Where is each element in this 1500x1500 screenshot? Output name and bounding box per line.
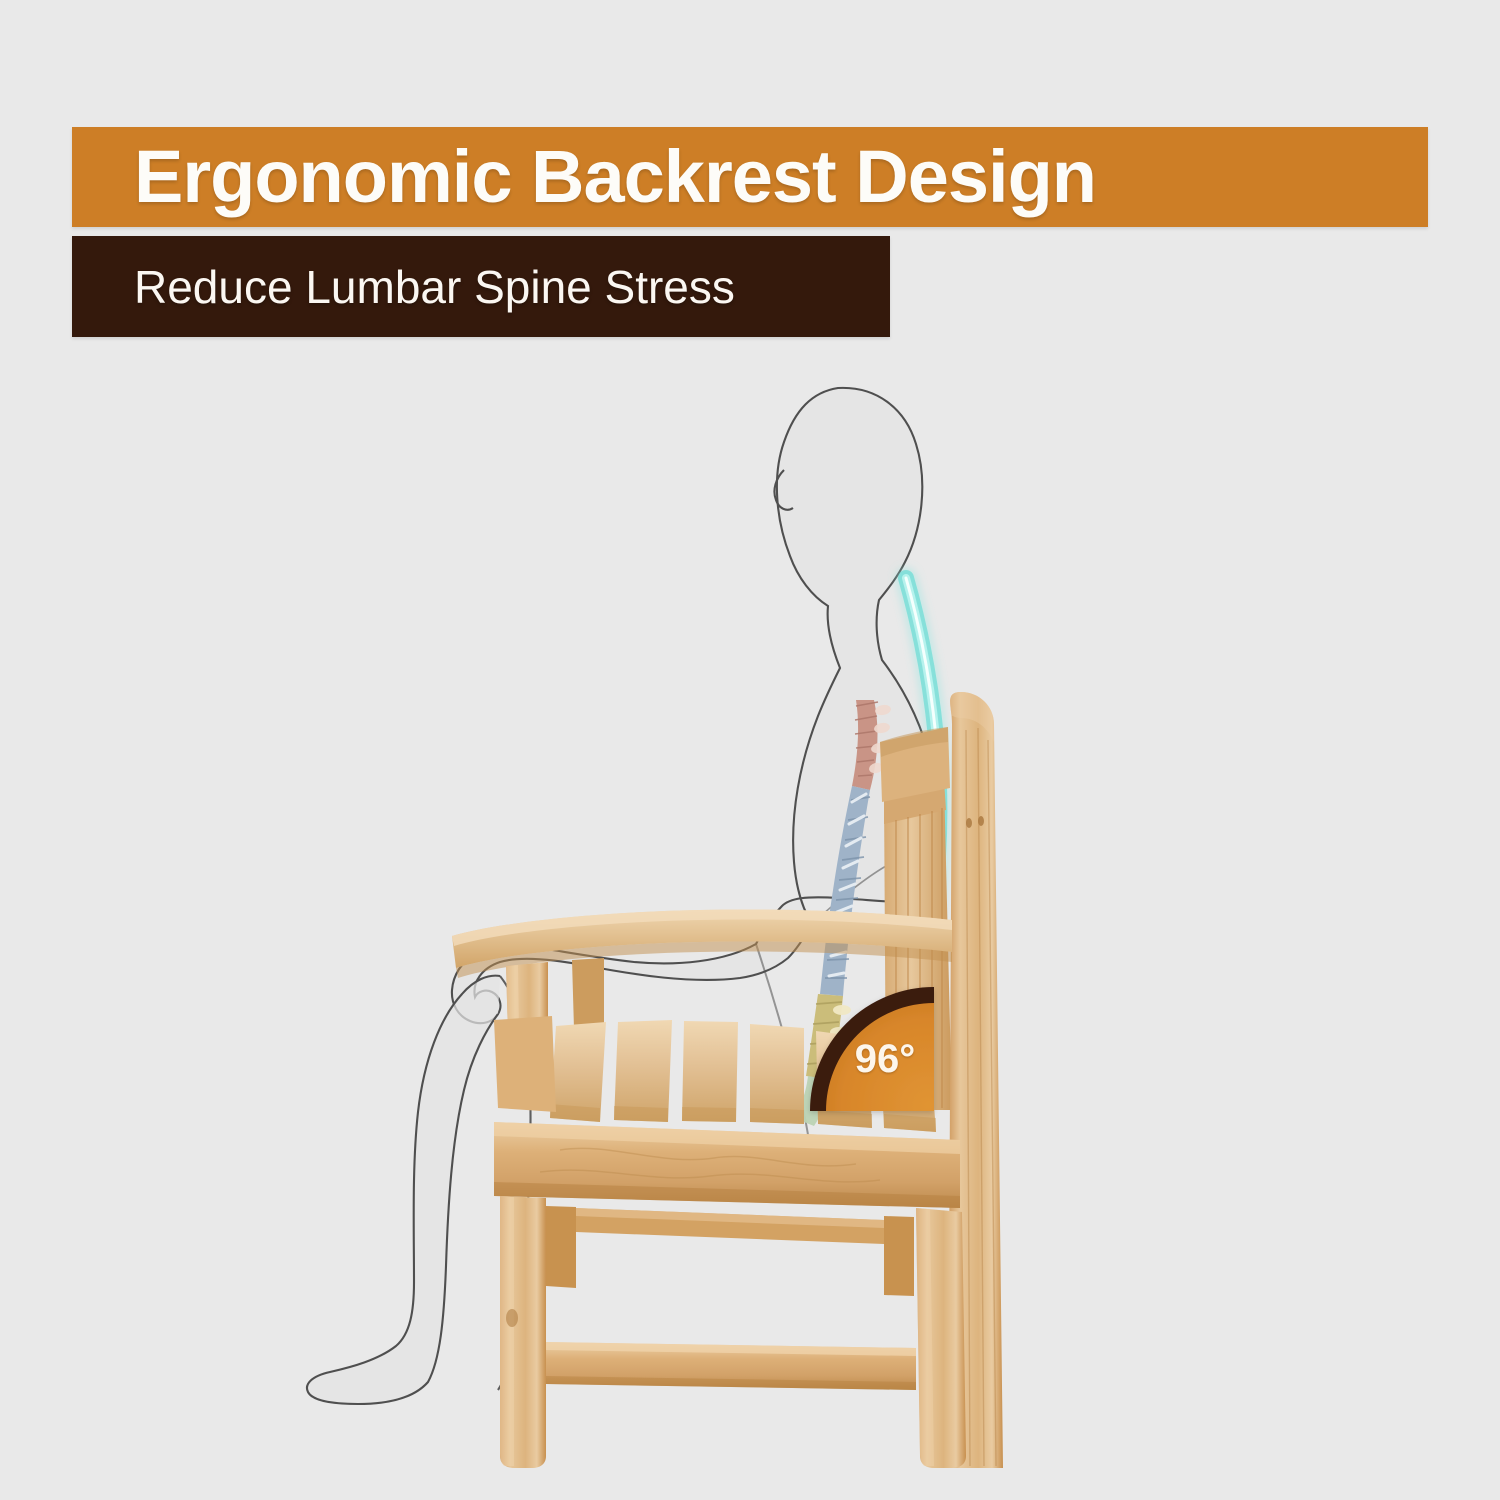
chair-front-leg [500,1196,546,1468]
chair-seat-apron [494,1122,960,1208]
chair-rear-leg [916,1208,966,1468]
chair-arm-support-post-rear [572,958,604,1029]
product-illustration [0,0,1500,1500]
chair-upper-stretcher [546,1206,914,1296]
chair-lower-stretcher [546,1342,916,1390]
seat-slat [682,1021,738,1122]
infographic-canvas: Ergonomic Backrest Design Reduce Lumbar … [0,0,1500,1500]
